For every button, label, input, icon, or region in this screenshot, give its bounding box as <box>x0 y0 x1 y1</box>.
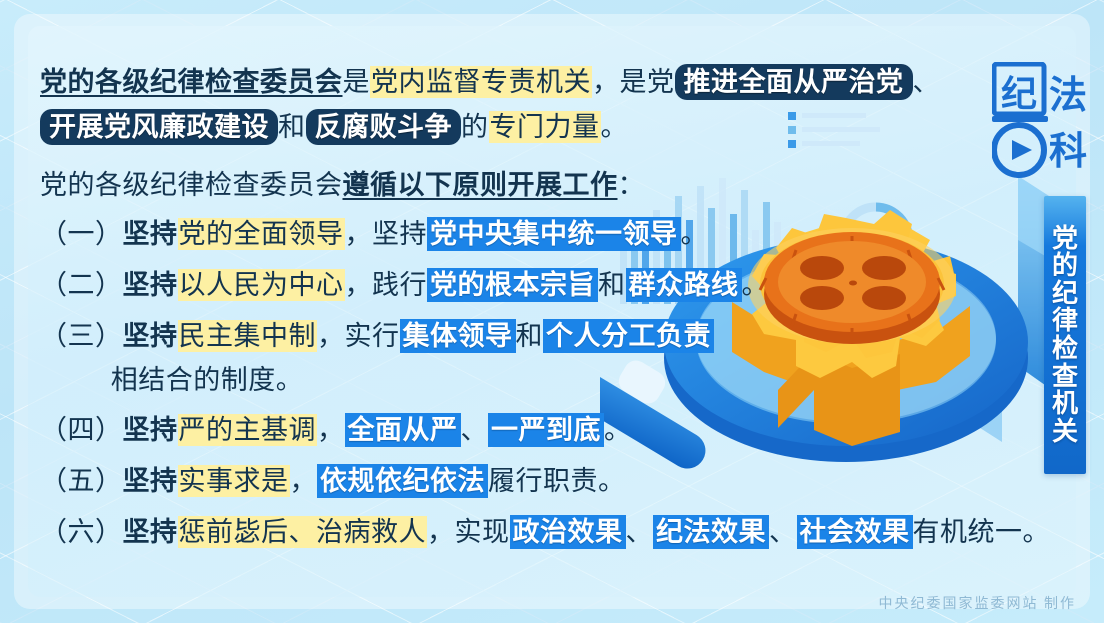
item-3-blue: 集体领导 <box>400 319 516 353</box>
lead-seg-8: 和 <box>278 112 306 142</box>
intro-colon: ： <box>618 170 646 200</box>
item-5-yellow: 实事求是 <box>178 465 290 497</box>
intro-plain: 党的各级纪律检查委员会 <box>40 170 343 200</box>
item-6-mid2: 、 <box>626 517 654 547</box>
footer-credit: 中央纪委国家监委网站 制作 <box>879 593 1077 613</box>
item-3-mid: ，实行 <box>317 321 400 351</box>
lead-seg-2: 是 <box>343 67 371 97</box>
vertical-title-text: 党的纪律检查机关 <box>1052 225 1078 445</box>
item-1-tail: 。 <box>681 219 709 249</box>
jifa-baike-logo[interactable]: 纪 法 科 <box>992 62 1090 184</box>
lead-pill-1: 推进全面从严治党 <box>675 64 913 100</box>
item-2-tail: 。 <box>742 270 770 300</box>
lead-seg-10: 的 <box>461 112 489 142</box>
item-4-blue-2: 一严到底 <box>488 413 604 447</box>
item-6-mid: ，实现 <box>427 517 510 547</box>
intro-underlined: 遵循以下原则开展工作 <box>343 170 618 200</box>
item-3-second-line: 相结合的制度。 <box>40 359 990 403</box>
list-item-1: （一）坚持党的全面领导，坚持党中央集中统一领导。 <box>40 213 990 257</box>
list-item-4: （四）坚持严的主基调，全面从严、一严到底。 <box>40 409 990 453</box>
item-2-mid2: 和 <box>598 270 626 300</box>
lead-highlight-yellow-1: 党内监督专责机关 <box>370 66 592 98</box>
item-4-tail: 。 <box>604 415 632 445</box>
item-3-mid2: 和 <box>516 321 544 351</box>
item-4-number: （四） <box>40 415 123 445</box>
item-5-number: （五） <box>40 466 123 496</box>
item-5-tail: 履行职责。 <box>488 466 626 496</box>
logo-char-fa: 法 <box>1049 75 1087 117</box>
item-4-bold: 坚持 <box>123 415 178 445</box>
lead-seg-1: 党的各级纪律检查委员会 <box>40 67 343 97</box>
item-1-bold: 坚持 <box>123 219 178 249</box>
intro-paragraph: 党的各级纪律检查委员会遵循以下原则开展工作： <box>40 164 990 208</box>
item-2-number: （二） <box>40 270 123 300</box>
lead-pill-2: 开展党风廉政建设 <box>40 109 278 145</box>
item-6-mid3: 、 <box>769 517 797 547</box>
lead-pill-3: 反腐败斗争 <box>306 109 462 145</box>
item-6-yellow: 惩前毖后、治病救人 <box>178 516 428 548</box>
item-6-number: （六） <box>40 517 123 547</box>
item-2-yellow: 以人民为中心 <box>178 269 345 301</box>
list-item-6: （六）坚持惩前毖后、治病救人，实现政治效果、纪法效果、社会效果有机统一。 <box>40 511 990 555</box>
lead-highlight-yellow-2: 专门力量 <box>489 111 601 143</box>
item-4-mid2: 、 <box>461 415 489 445</box>
list-item-5: （五）坚持实事求是，依规依纪依法履行职责。 <box>40 460 990 504</box>
item-5-bold: 坚持 <box>123 466 178 496</box>
item-3-number: （三） <box>40 321 123 351</box>
logo-char-ji: 纪 <box>1001 74 1037 114</box>
item-2-bold: 坚持 <box>123 270 178 300</box>
item-1-mid: ，坚持 <box>345 219 428 249</box>
item-5-mid: ， <box>290 466 318 496</box>
play-icon <box>1012 140 1032 160</box>
lead-seg-6: 、 <box>913 67 941 97</box>
item-2-blue-2: 群众路线 <box>626 268 742 302</box>
list-item-2: （二）坚持以人民为中心，践行党的根本宗旨和群众路线。 <box>40 264 990 308</box>
lead-seg-12: 。 <box>601 112 629 142</box>
item-6-blue: 政治效果 <box>510 515 626 549</box>
logo-char-ke: 科 <box>1049 131 1087 173</box>
vertical-title-bar: 党的纪律检查机关 <box>1044 196 1086 474</box>
item-6-blue-2: 纪法效果 <box>653 515 769 549</box>
item-6-bold: 坚持 <box>123 517 178 547</box>
item-1-yellow: 党的全面领导 <box>178 218 345 250</box>
list-item-3: （三）坚持民主集中制，实行集体领导和个人分工负责 相结合的制度。 <box>40 315 990 402</box>
lead-paragraph: 党的各级纪律检查委员会是党内监督专责机关，是党推进全面从严治党、 开展党风廉政建… <box>40 60 990 150</box>
poster-canvas: 党的各级纪律检查委员会是党内监督专责机关，是党推进全面从严治党、 开展党风廉政建… <box>0 0 1104 623</box>
item-6-blue-3: 社会效果 <box>797 515 913 549</box>
item-6-tail: 有机统一。 <box>913 517 1051 547</box>
item-5-blue: 依规依纪依法 <box>317 464 488 498</box>
item-1-blue: 党中央集中统一领导 <box>427 217 681 251</box>
item-2-mid: ，践行 <box>345 270 428 300</box>
article-text-block: 党的各级纪律检查委员会是党内监督专责机关，是党推进全面从严治党、 开展党风廉政建… <box>40 60 990 562</box>
item-3-blue-2: 个人分工负责 <box>543 319 714 353</box>
item-4-blue: 全面从严 <box>345 413 461 447</box>
item-3-bold: 坚持 <box>123 321 178 351</box>
item-4-yellow: 严的主基调 <box>178 414 318 446</box>
item-2-blue: 党的根本宗旨 <box>427 268 598 302</box>
item-4-mid: ， <box>317 415 345 445</box>
lead-seg-4: ，是党 <box>592 67 675 97</box>
item-1-number: （一） <box>40 219 123 249</box>
item-3-yellow: 民主集中制 <box>178 320 318 352</box>
